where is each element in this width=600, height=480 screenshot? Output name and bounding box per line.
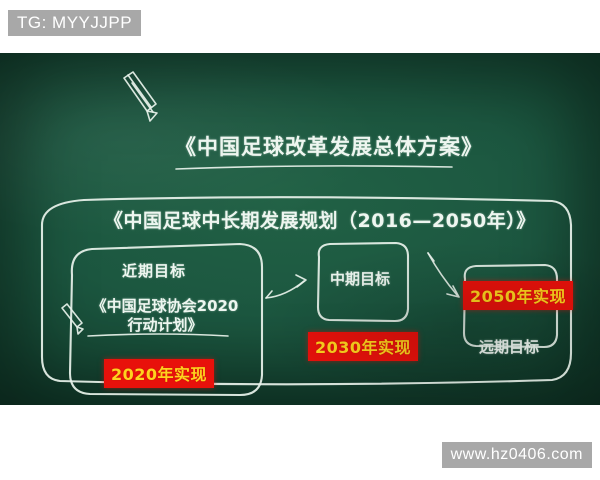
pencil-icon — [62, 304, 83, 334]
badge-mid-goal-year: 2030年实现 — [308, 332, 418, 361]
sub-title: 《中国足球中长期发展规划（2016—2050年）》 — [104, 206, 536, 233]
arrow-near-to-mid — [266, 275, 306, 298]
badge-far-goal-year: 2050年实现 — [463, 281, 573, 310]
near-goal-heading: 近期目标 — [122, 260, 186, 281]
main-title: 《中国足球改革发展总体方案》 — [175, 131, 483, 161]
far-goal-heading: 远期目标 — [478, 337, 540, 357]
title-underline — [176, 166, 452, 169]
badge-near-goal-year: 2020年实现 — [104, 359, 214, 388]
watermark-top-left: TG: MYYJJPP — [8, 10, 141, 36]
chalkboard: 《中国足球改革发展总体方案》 《中国足球中长期发展规划（2016—2050年）》… — [0, 53, 600, 405]
watermark-bottom-right: www.hz0406.com — [442, 442, 592, 468]
mid-goal-heading: 中期目标 — [329, 269, 391, 289]
pencil-icon — [124, 72, 157, 121]
arrow-mid-to-far — [428, 253, 459, 297]
near-goal-plan-text: 《中国足球协会2020行动计划》 — [85, 297, 245, 335]
